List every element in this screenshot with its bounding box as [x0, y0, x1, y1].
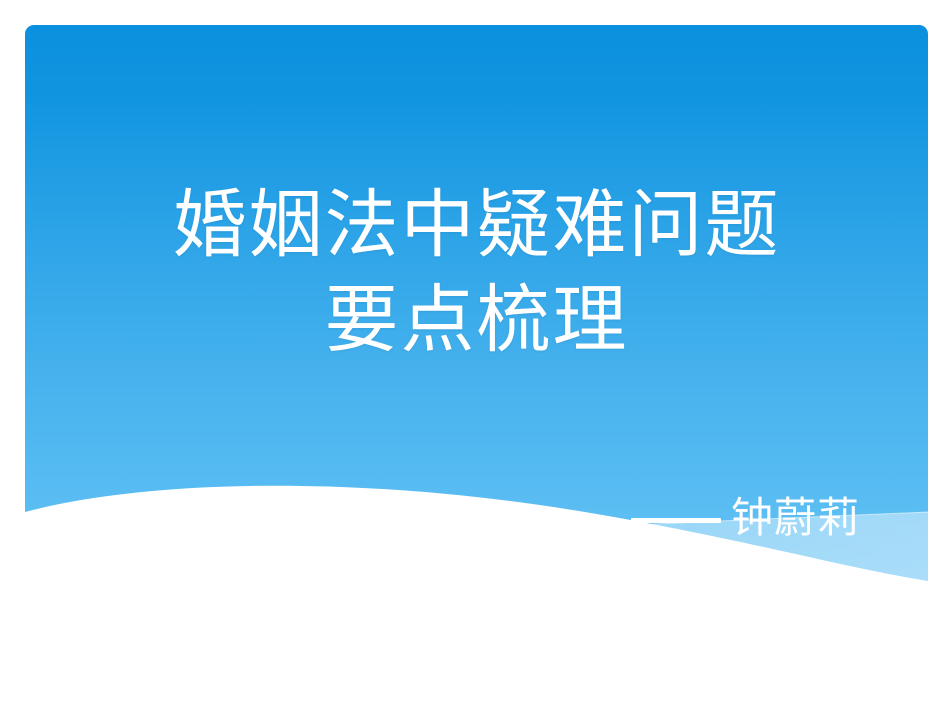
slide-byline: 钟蔚莉 — [631, 493, 860, 543]
slide-title-line-2: 要点梳理 — [25, 275, 928, 368]
slide-author-name: 钟蔚莉 — [731, 493, 860, 543]
slide-title-line-1: 婚姻法中疑难问题 — [25, 180, 928, 273]
slide-canvas: 婚姻法中疑难问题 要点梳理 钟蔚莉 — [25, 25, 928, 650]
presentation-slide: 婚姻法中疑难问题 要点梳理 钟蔚莉 — [0, 0, 950, 713]
slide-title: 婚姻法中疑难问题 要点梳理 — [25, 180, 928, 368]
em-dash-icon — [631, 518, 721, 523]
